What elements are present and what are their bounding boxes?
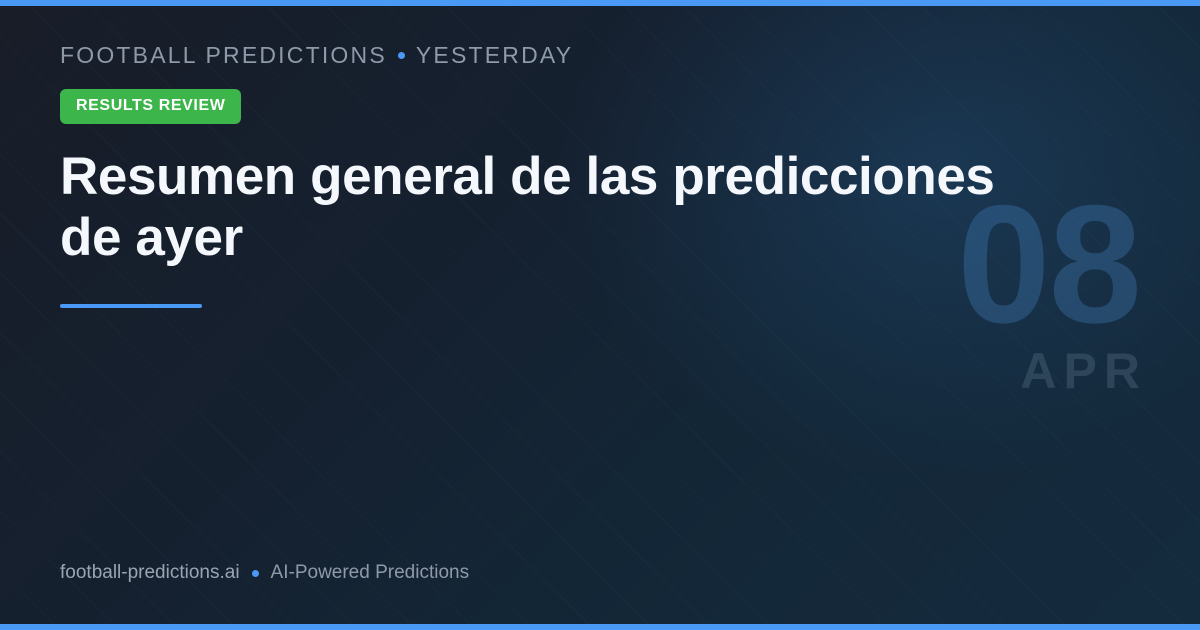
eyebrow: FOOTBALL PREDICTIONS YESTERDAY <box>60 42 1140 69</box>
footer-site: football-predictions.ai <box>60 562 240 584</box>
bullet-dot-icon <box>398 52 405 59</box>
accent-rule <box>60 304 202 308</box>
bullet-dot-icon <box>252 570 259 577</box>
card-content: FOOTBALL PREDICTIONS YESTERDAY RESULTS R… <box>60 42 1140 308</box>
page-title: Resumen general de las predicciones de a… <box>60 146 1040 269</box>
bottom-accent-bar <box>0 624 1200 630</box>
eyebrow-category: FOOTBALL PREDICTIONS <box>60 42 387 69</box>
top-accent-bar <box>0 0 1200 6</box>
social-share-card: 08 APR FOOTBALL PREDICTIONS YESTERDAY RE… <box>0 0 1200 630</box>
footer-tagline: AI-Powered Predictions <box>271 562 470 584</box>
eyebrow-timeframe: YESTERDAY <box>416 42 573 69</box>
footer: football-predictions.ai AI-Powered Predi… <box>60 562 469 584</box>
status-badge: RESULTS REVIEW <box>60 89 241 124</box>
